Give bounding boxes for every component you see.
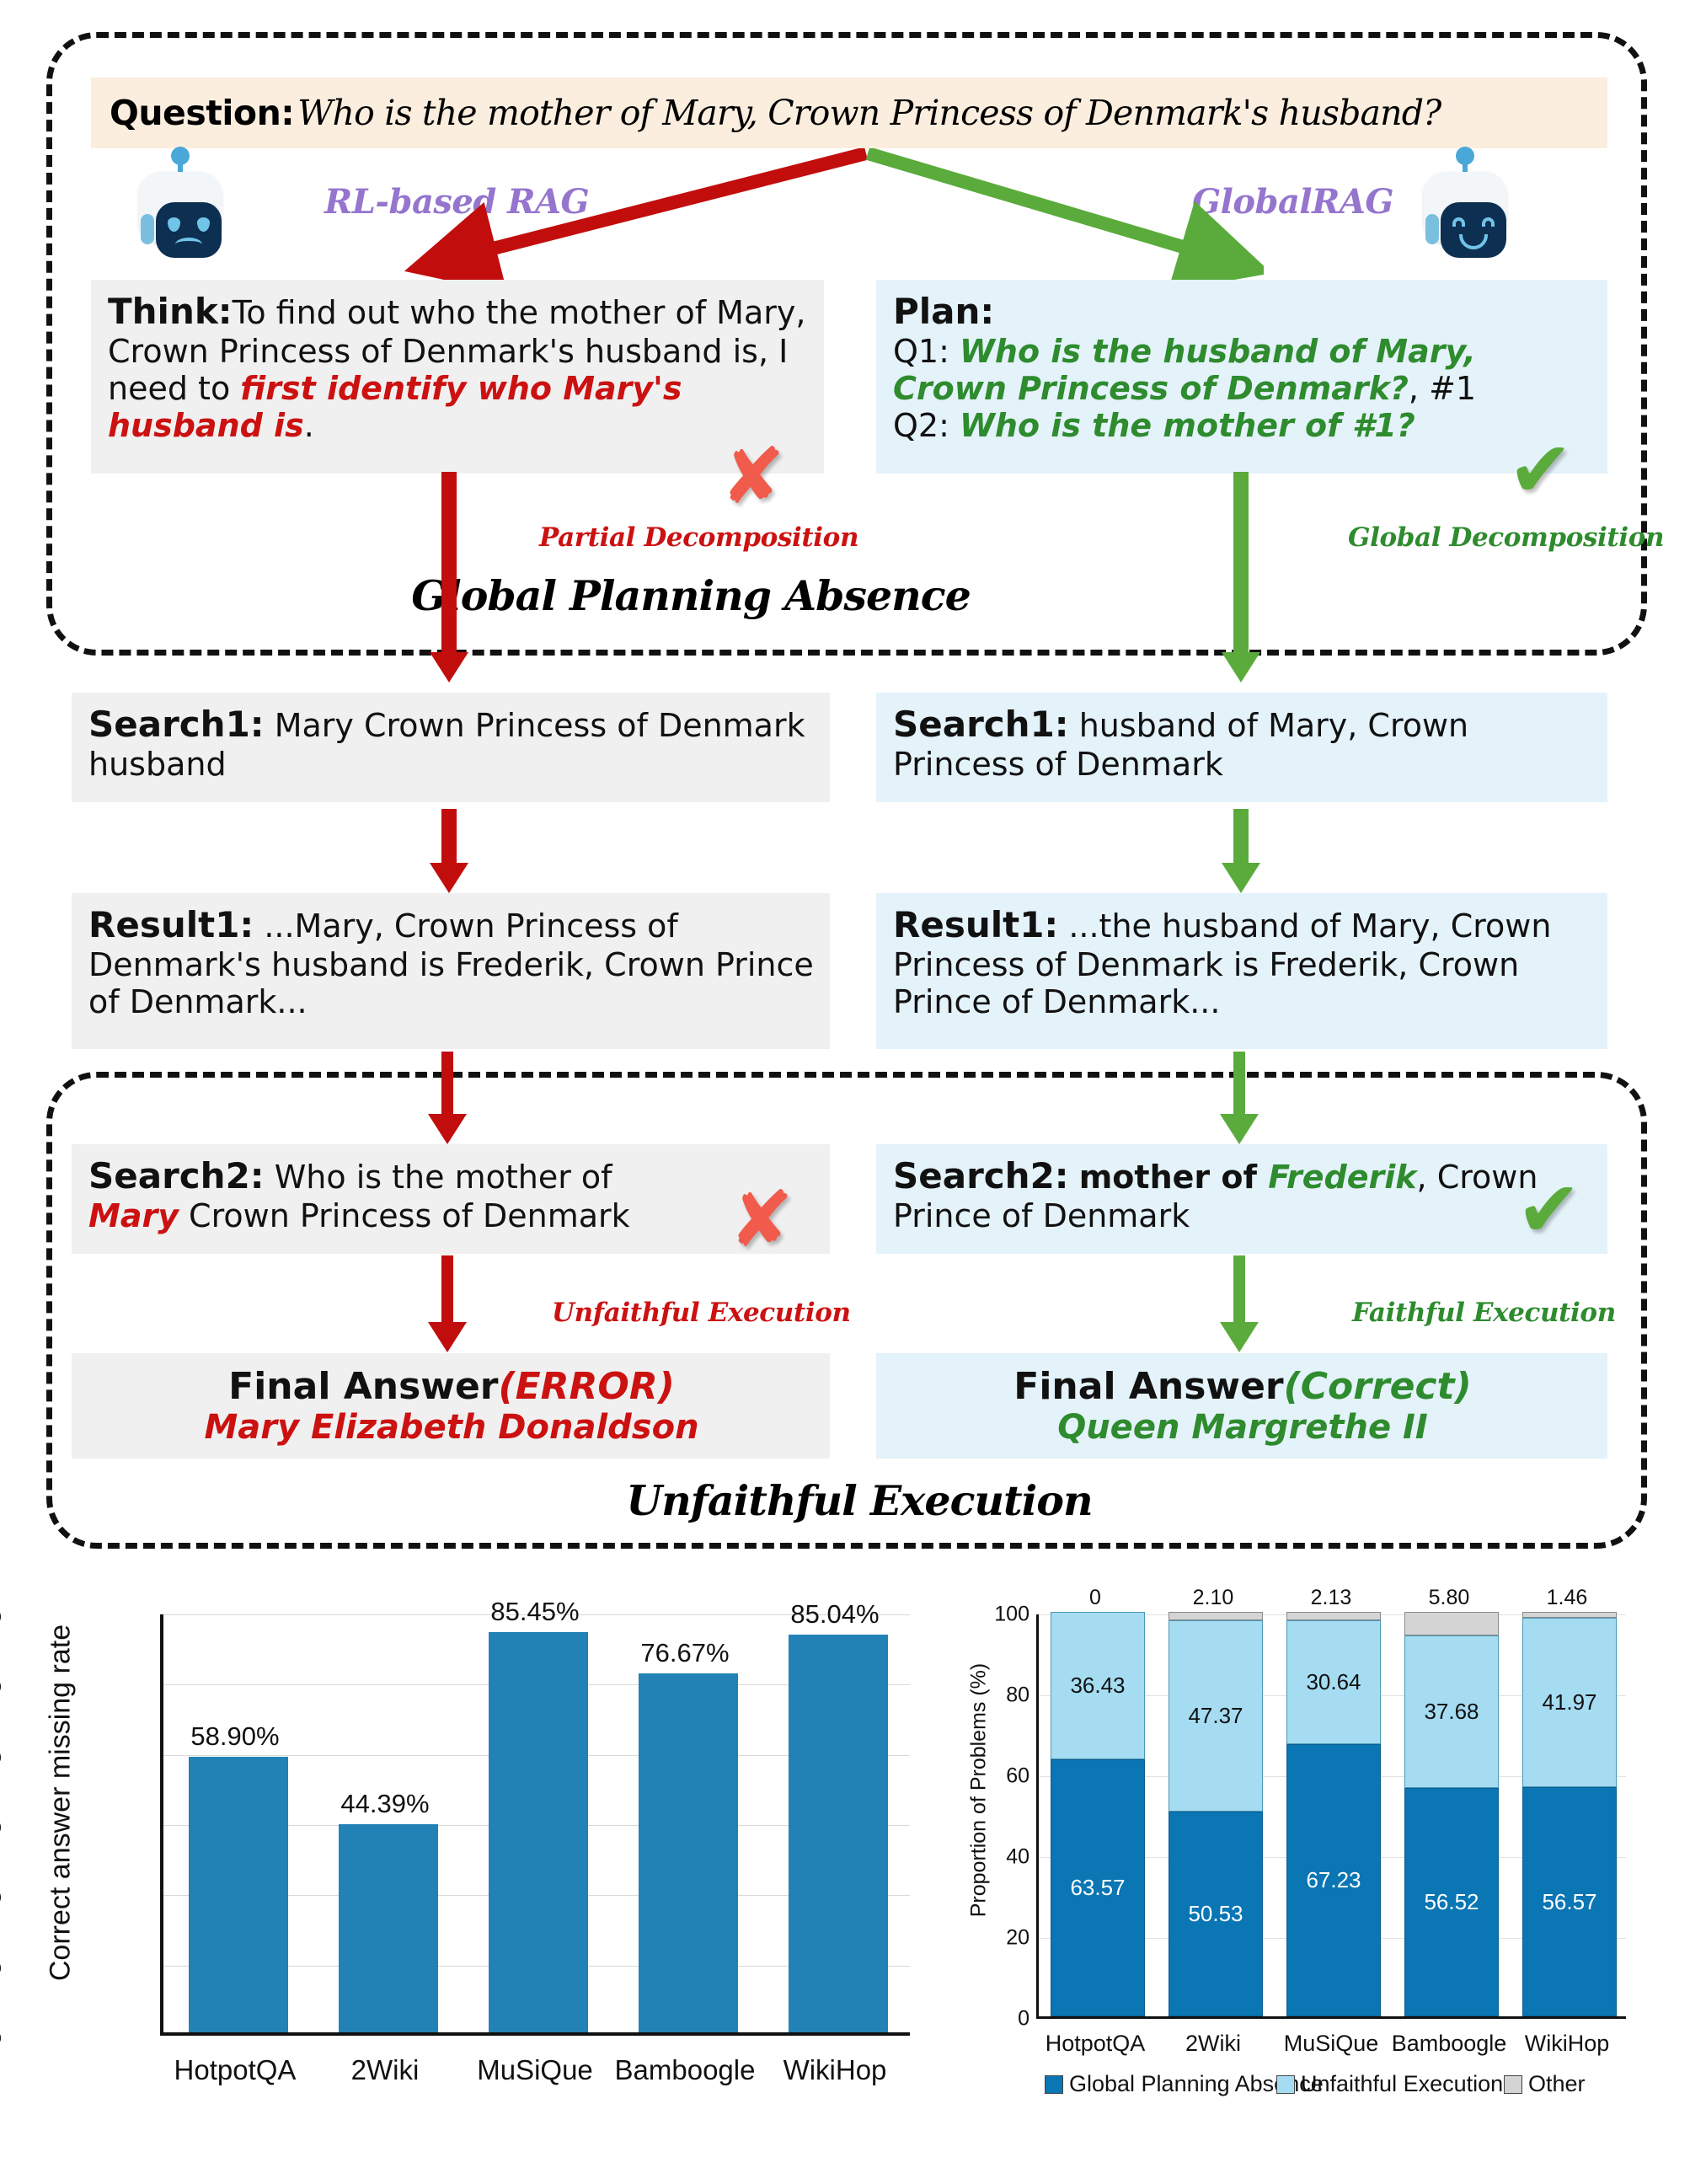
chart-right-ylabel: Proportion of Problems (%) bbox=[967, 1614, 992, 1967]
partial-decomposition-tag: Partial Decomposition bbox=[539, 522, 858, 553]
global-decomposition-tag: Global Decomposition bbox=[1348, 522, 1664, 553]
legend-label: Other bbox=[1528, 2071, 1586, 2097]
search2-label-left: Search2: bbox=[88, 1155, 265, 1196]
chart-left-ytick: 0% bbox=[0, 2021, 2, 2050]
legend-swatch-icon bbox=[1276, 2075, 1295, 2094]
chart-left-bar bbox=[339, 1824, 437, 2032]
final-status-right: (Correct) bbox=[1284, 1365, 1472, 1408]
chart-right-segment: 37.68 bbox=[1404, 1635, 1499, 1788]
chart-left-bar bbox=[639, 1673, 737, 2032]
final-answer-box-left: Final Answer(ERROR) Mary Elizabeth Donal… bbox=[72, 1353, 830, 1459]
result1-label-right: Result1: bbox=[893, 904, 1058, 945]
chart-left-bar-value: 85.04% bbox=[725, 1599, 944, 1630]
think-box: Think:To find out who the mother of Mary… bbox=[91, 280, 824, 474]
chart-left-bar bbox=[189, 1757, 287, 2032]
chart-left-ytick: 75% bbox=[0, 1670, 2, 1699]
q2-text: Who is the mother of #1? bbox=[960, 407, 1415, 444]
arrow-search1-to-result1-left bbox=[441, 809, 457, 893]
chart-right-legend-item[interactable]: Unfaithful Execution bbox=[1276, 2071, 1503, 2097]
think-label: Think: bbox=[108, 291, 233, 332]
search2-box-right: Search2: mother of Frederik, Crown Princ… bbox=[876, 1144, 1607, 1254]
charts-area: Correct answer missing rate 0%15%30%45%6… bbox=[0, 1576, 1706, 2184]
chart-right-segment: 56.57 bbox=[1522, 1787, 1617, 2016]
chart-right-other-value: 0 bbox=[1028, 1586, 1163, 1610]
arrow-plan-to-search1 bbox=[1233, 472, 1249, 682]
result1-box-left: Result1: ...Mary, Crown Princess of Denm… bbox=[72, 893, 830, 1049]
search1-box-left: Search1: Mary Crown Princess of Denmark … bbox=[72, 693, 830, 802]
chart-right-ytick: 20 bbox=[971, 1926, 1029, 1951]
chart-right-segment: 56.52 bbox=[1404, 1788, 1499, 2016]
chart-left-ytick: 90% bbox=[0, 1600, 2, 1629]
check-mark-plan: ✔ bbox=[1508, 431, 1573, 509]
happy-robot-icon bbox=[1415, 150, 1515, 249]
final-answer-box-right: Final Answer(Correct) Queen Margrethe II bbox=[876, 1353, 1607, 1459]
chart-left-ylabel: Correct answer missing rate bbox=[45, 1618, 78, 1989]
sad-robot-icon bbox=[131, 150, 230, 249]
search1-label-right: Search1: bbox=[893, 704, 1069, 745]
q2-key: Q2: bbox=[893, 407, 949, 444]
search2-pre-right: mother of bbox=[1079, 1159, 1269, 1196]
legend-swatch-icon bbox=[1045, 2075, 1063, 2094]
arrow-result1-to-search2-left bbox=[441, 1052, 453, 1144]
chart-right-stack: 63.5736.43 bbox=[1051, 1612, 1145, 2016]
branch-arrow-left bbox=[404, 148, 876, 283]
question-bar: Question: Who is the mother of Mary, Cro… bbox=[91, 78, 1607, 148]
chart-right-other-value: 5.80 bbox=[1382, 1586, 1516, 1610]
result1-label-left: Result1: bbox=[88, 904, 254, 945]
chart-left-bar-value: 85.45% bbox=[425, 1597, 644, 1627]
chart-right-stack: 56.5741.97 bbox=[1522, 1612, 1617, 2016]
chart-right-other-value: 1.46 bbox=[1500, 1586, 1634, 1610]
chart-right-segment: 41.97 bbox=[1522, 1618, 1617, 1787]
chart-left-plot: 0%15%30%45%60%75%90% bbox=[160, 1614, 910, 2036]
think-text-tail: . bbox=[304, 407, 314, 444]
plan-box: Plan: Q1: Who is the husband of Mary, Cr… bbox=[876, 280, 1607, 474]
arrow-search2-to-final-right bbox=[1233, 1255, 1245, 1352]
chart-right-other-value: 2.13 bbox=[1264, 1586, 1398, 1610]
search2-pre-left: Who is the mother of bbox=[275, 1159, 612, 1196]
chart-right-stack: 56.5237.68 bbox=[1404, 1612, 1499, 2016]
stacked-bar-chart-problem-proportions: Proportion of Problems (%) 0204060801006… bbox=[952, 1576, 1706, 2184]
search2-box-left: Search2: Who is the mother of Mary Crown… bbox=[72, 1144, 830, 1254]
branch-arrow-right bbox=[859, 148, 1264, 283]
chart-right-segment bbox=[1286, 1612, 1381, 1620]
arrow-result1-to-search2-right bbox=[1233, 1052, 1245, 1144]
final-answer-text-left: Mary Elizabeth Donaldson bbox=[88, 1408, 815, 1447]
final-label-left: Final Answer bbox=[228, 1365, 498, 1408]
chart-right-segment: 30.64 bbox=[1286, 1620, 1381, 1744]
search1-label-left: Search1: bbox=[88, 704, 265, 745]
chart-right-ytick: 40 bbox=[971, 1845, 1029, 1870]
arrow-search2-to-final-left bbox=[441, 1255, 453, 1352]
chart-left-ytick: 45% bbox=[0, 1811, 2, 1839]
faithful-execution-tag: Faithful Execution bbox=[1352, 1298, 1616, 1328]
arrow-think-to-search1 bbox=[441, 472, 457, 682]
legend-label: Unfaithful Execution bbox=[1301, 2071, 1503, 2097]
q1-ref: , #1 bbox=[1409, 370, 1476, 407]
chart-right-ytick: 0 bbox=[971, 2007, 1029, 2031]
chart-right-stack: 67.2330.64 bbox=[1286, 1612, 1381, 2016]
cross-mark-think: ✘ bbox=[720, 438, 785, 516]
chart-left-ytick: 30% bbox=[0, 1881, 2, 1909]
question-text: Who is the mother of Mary, Crown Princes… bbox=[297, 93, 1441, 133]
chart-right-ytick: 100 bbox=[971, 1603, 1029, 1627]
chart-right-segment bbox=[1169, 1612, 1263, 1620]
search2-highlight-left: Mary bbox=[88, 1197, 179, 1234]
chart-right-segment: 47.37 bbox=[1169, 1620, 1263, 1812]
search2-highlight-right: Frederik bbox=[1268, 1159, 1416, 1196]
search2-post-left: Crown Princess of Denmark bbox=[179, 1197, 630, 1234]
chart-left-bar bbox=[489, 1632, 587, 2032]
chart-right-segment bbox=[1404, 1612, 1499, 1635]
chart-right-xtick: WikiHop bbox=[1483, 2031, 1651, 2057]
q1-key: Q1: bbox=[893, 333, 949, 370]
chart-right-ytick: 60 bbox=[971, 1764, 1029, 1789]
chart-right-segment bbox=[1522, 1612, 1617, 1618]
search1-box-right: Search1: husband of Mary, Crown Princess… bbox=[876, 693, 1607, 802]
plan-label: Plan: bbox=[893, 291, 994, 332]
chart-left-ytick: 60% bbox=[0, 1741, 2, 1769]
flow-diagram: Question: Who is the mother of Mary, Cro… bbox=[0, 0, 1706, 1576]
chart-right-stack: 50.5347.37 bbox=[1169, 1612, 1263, 2016]
result1-box-right: Result1: ...the husband of Mary, Crown P… bbox=[876, 893, 1607, 1049]
bar-chart-correct-answer-missing-rate: Correct answer missing rate 0%15%30%45%6… bbox=[17, 1576, 935, 2184]
final-label-right: Final Answer bbox=[1013, 1365, 1283, 1408]
legend-swatch-icon bbox=[1504, 2075, 1522, 2094]
final-answer-text-right: Queen Margrethe II bbox=[893, 1408, 1592, 1447]
chart-right-segment: 63.57 bbox=[1051, 1759, 1145, 2016]
chart-right-ytick: 80 bbox=[971, 1683, 1029, 1708]
chart-right-other-value: 2.10 bbox=[1146, 1586, 1281, 1610]
chart-right-legend-item[interactable]: Other bbox=[1504, 2071, 1586, 2097]
cross-mark-search2: ✘ bbox=[729, 1181, 794, 1259]
search2-label-right: Search2: bbox=[893, 1155, 1069, 1196]
chart-left-ytick: 15% bbox=[0, 1951, 2, 1980]
unfaithful-execution-tag: Unfaithful Execution bbox=[552, 1298, 851, 1328]
question-label: Question: bbox=[110, 93, 294, 133]
chart-left-xtick: WikiHop bbox=[734, 2054, 936, 2086]
arrow-search1-to-result1-right bbox=[1233, 809, 1249, 893]
chart-left-bar-value: 44.39% bbox=[275, 1789, 495, 1819]
chart-right-segment: 50.53 bbox=[1169, 1812, 1263, 2016]
chart-right-plot: 02040608010063.5736.4350.5347.3767.2330.… bbox=[1036, 1614, 1626, 2019]
chart-left-bar bbox=[789, 1635, 887, 2032]
q1-text: Who is the husband of Mary, Crown Prince… bbox=[893, 333, 1476, 407]
final-status-left: (ERROR) bbox=[498, 1365, 674, 1408]
chart-left-bar-value: 58.90% bbox=[126, 1721, 345, 1752]
chart-right-segment: 67.23 bbox=[1286, 1744, 1381, 2016]
check-mark-search2: ✔ bbox=[1516, 1171, 1581, 1249]
section-title-bottom: Unfaithful Execution bbox=[522, 1476, 1196, 1525]
chart-right-segment: 36.43 bbox=[1051, 1612, 1145, 1759]
chart-left-bar-value: 76.67% bbox=[575, 1638, 794, 1668]
